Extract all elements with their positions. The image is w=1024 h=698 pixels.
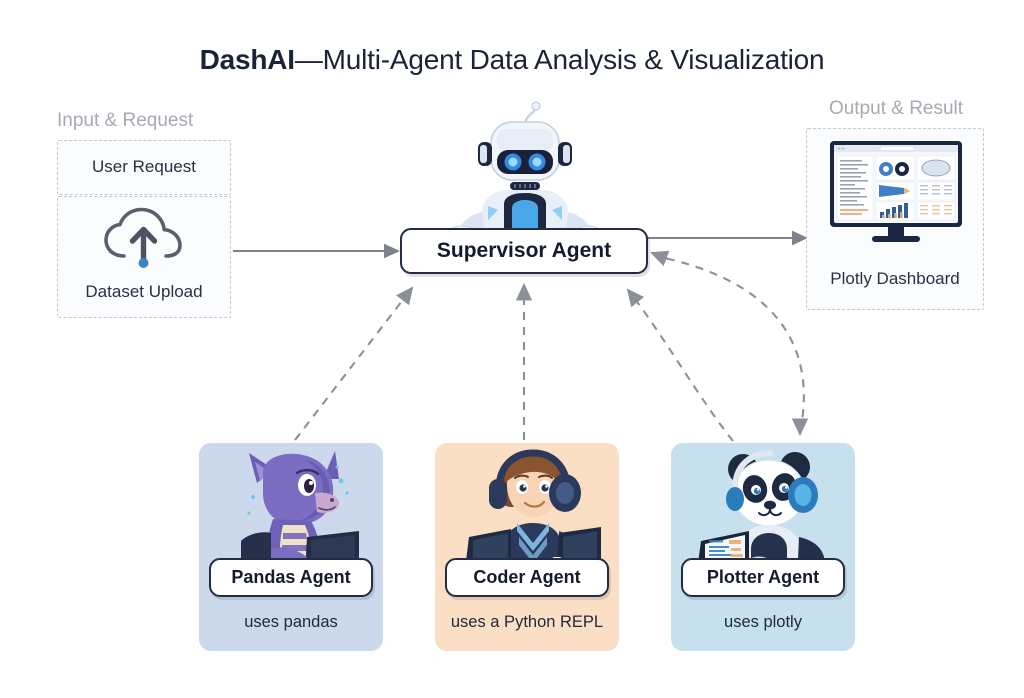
user-request-label: User Request [58,157,230,177]
agent-card-coder[interactable]: Coder Agent uses a Python REPL [435,443,619,651]
output-item-plotly-dashboard[interactable]: Plotly Dashboard [806,128,984,310]
supervisor-agent-box[interactable]: Supervisor Agent [400,228,648,274]
coder-agent-caption: uses a Python REPL [435,613,619,632]
plotter-agent-box[interactable]: Plotter Agent [681,558,845,597]
agent-card-pandas[interactable]: Pandas Agent uses pandas [199,443,383,651]
input-panel-heading: Input & Request [57,110,193,132]
output-panel-heading: Output & Result [806,98,986,120]
page-title: DashAI—Multi-Agent Data Analysis & Visua… [0,44,1024,76]
coder-agent-label: Coder Agent [473,567,580,588]
connector-plotter-to-supervisor [628,290,733,441]
diagram-canvas: DashAI—Multi-Agent Data Analysis & Visua… [0,0,1024,698]
page-title-brand: DashAI [200,44,295,75]
agent-card-plotter[interactable]: Plotter Agent uses plotly [671,443,855,651]
plotly-dashboard-label: Plotly Dashboard [807,269,983,289]
pandas-agent-box[interactable]: Pandas Agent [209,558,373,597]
coder-agent-box[interactable]: Coder Agent [445,558,609,597]
input-item-dataset-upload[interactable]: Dataset Upload [57,196,231,318]
connector-supervisor-to-plotter [652,253,804,434]
pandas-agent-caption: uses pandas [199,613,383,632]
cloud-upload-icon [100,207,190,271]
dataset-upload-label: Dataset Upload [58,282,230,302]
pandas-agent-label: Pandas Agent [231,567,350,588]
monitor-dashboard-icon [824,137,968,249]
input-item-user-request[interactable]: User Request [57,140,231,195]
plotter-agent-caption: uses plotly [671,613,855,632]
plotter-agent-label: Plotter Agent [707,567,819,588]
connector-pandas-to-supervisor [295,288,412,440]
page-title-rest: —Multi-Agent Data Analysis & Visualizati… [295,44,825,75]
robot-avatar-icon [442,100,608,238]
supervisor-agent-label: Supervisor Agent [437,239,611,263]
